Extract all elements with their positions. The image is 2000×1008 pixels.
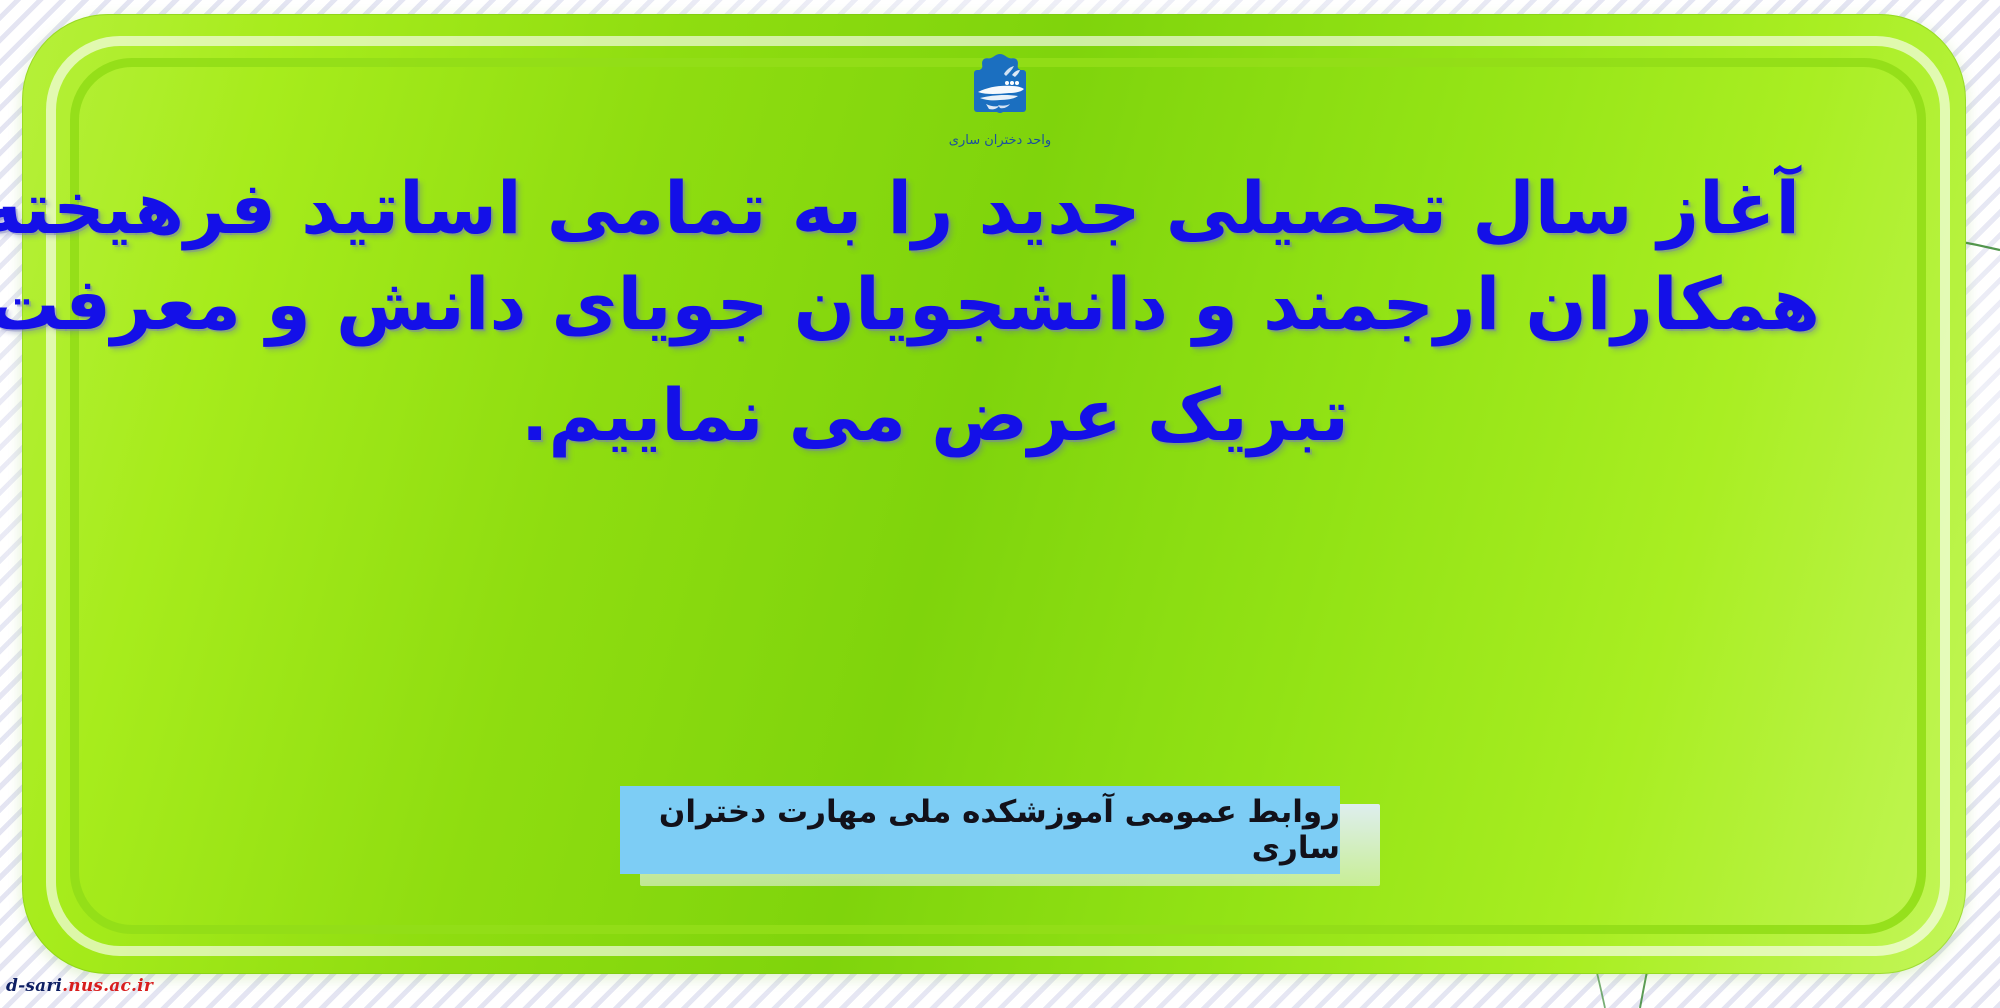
university-logo-icon (952, 52, 1048, 130)
headline-line-1: آغاز سال تحصیلی جدید را به تمامی اساتید … (150, 160, 1850, 256)
signature-banner-text: روابط عمومی آموزشکده ملی مهارت دختران سا… (620, 794, 1340, 866)
watermark-prefix: d-sari (6, 976, 62, 996)
watermark-suffix: .nus.ac.ir (62, 976, 153, 996)
university-logo-block: واحد دختران ساری (0, 52, 2000, 148)
site-watermark: d-sari.nus.ac.ir (6, 976, 153, 996)
signature-banner: روابط عمومی آموزشکده ملی مهارت دختران سا… (620, 786, 1340, 874)
headline-line-2: همکاران ارجمند و دانشجویان جویای دانش و … (150, 256, 1850, 352)
logo-caption: واحد دختران ساری (949, 133, 1051, 148)
headline-line-3: تبریک عرض می نماییم. (150, 367, 1850, 463)
greeting-poster: واحد دختران ساری آغاز سال تحصیلی جدید را… (0, 0, 2000, 1008)
headline-block: آغاز سال تحصیلی جدید را به تمامی اساتید … (150, 160, 1850, 463)
